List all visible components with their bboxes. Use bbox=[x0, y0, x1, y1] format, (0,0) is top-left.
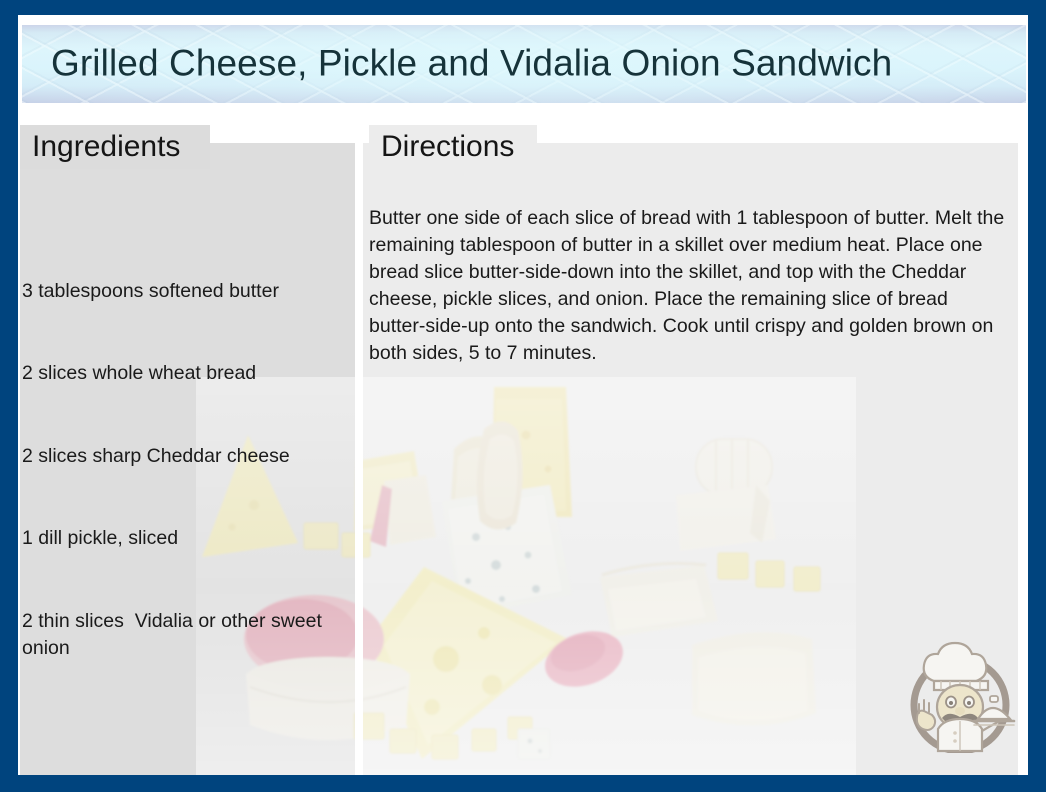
page-title: Grilled Cheese, Pickle and Vidalia Onion… bbox=[51, 44, 892, 85]
directions-head-notch bbox=[537, 125, 1018, 143]
content-columns: Ingredients 3 tablespoons softened butte… bbox=[18, 125, 1028, 775]
ingredients-column: Ingredients 3 tablespoons softened butte… bbox=[20, 125, 355, 775]
directions-heading: Directions bbox=[369, 125, 537, 169]
ingredients-head-notch bbox=[210, 125, 355, 143]
recipe-card-slide: Grilled Cheese, Pickle and Vidalia Onion… bbox=[0, 0, 1046, 792]
ingredients-list: 3 tablespoons softened butter 2 slices w… bbox=[20, 223, 360, 718]
recipe-card-page: Grilled Cheese, Pickle and Vidalia Onion… bbox=[18, 15, 1028, 775]
list-item: 3 tablespoons softened butter bbox=[22, 278, 360, 306]
list-item: 2 slices sharp Cheddar cheese bbox=[22, 443, 360, 471]
list-item: 2 thin slices Vidalia or other sweet oni… bbox=[22, 608, 360, 663]
list-item: 2 slices whole wheat bread bbox=[22, 360, 360, 388]
directions-text: Butter one side of each slice of bread w… bbox=[369, 205, 1009, 367]
chef-mascot-logo bbox=[904, 635, 1016, 753]
title-banner: Grilled Cheese, Pickle and Vidalia Onion… bbox=[22, 25, 1026, 103]
list-item: 1 dill pickle, sliced bbox=[22, 525, 360, 553]
ingredients-heading: Ingredients bbox=[20, 125, 210, 169]
